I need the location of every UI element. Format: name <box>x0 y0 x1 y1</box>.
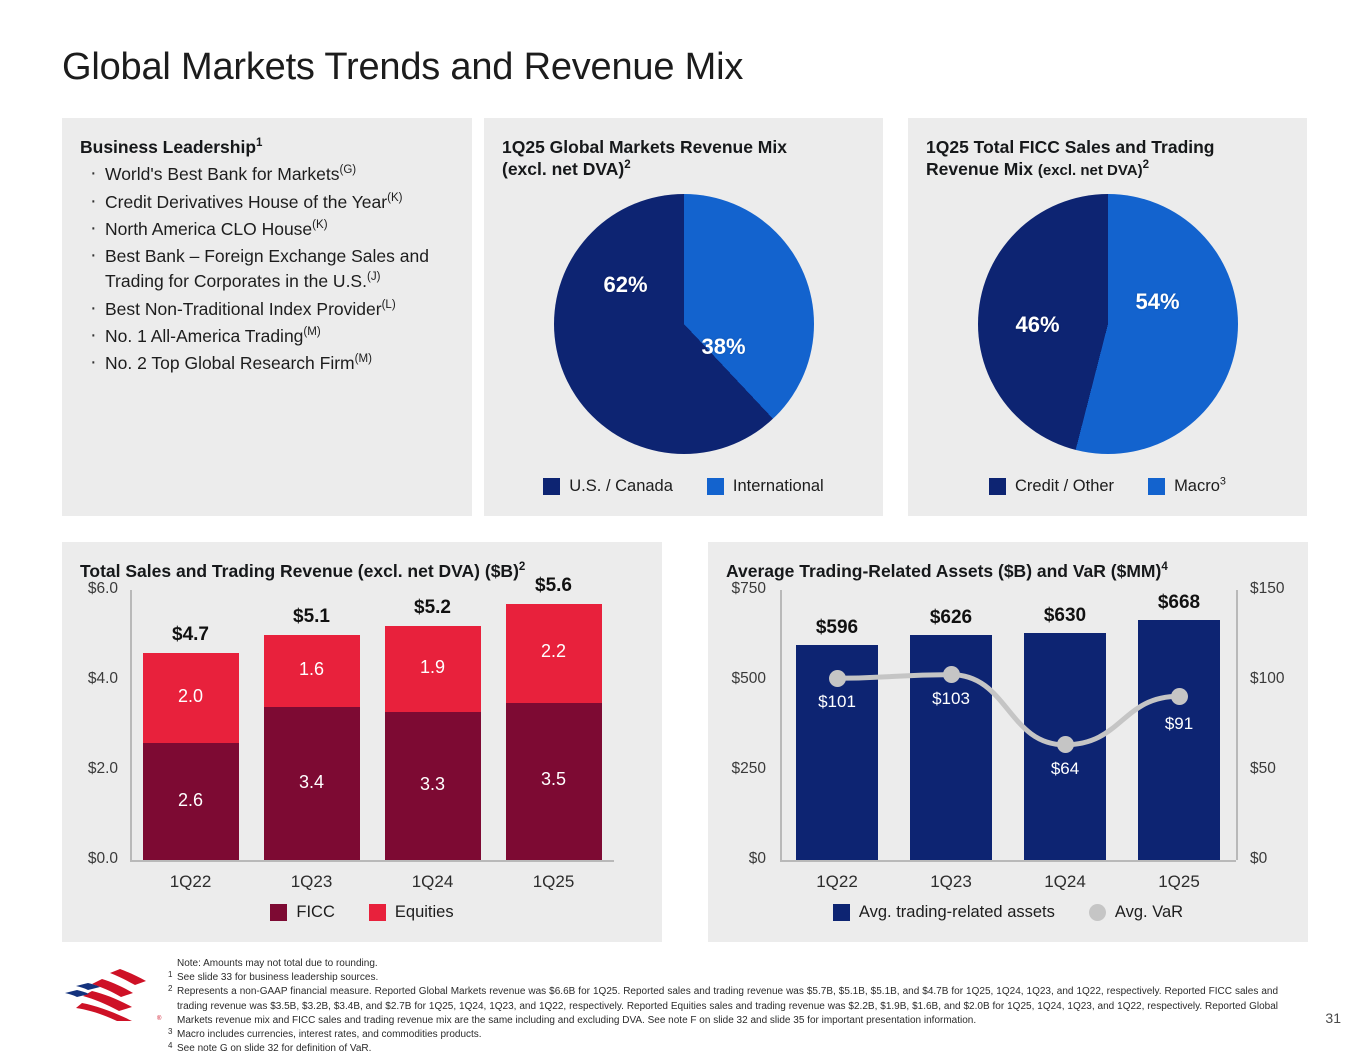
legend-label-avg-assets: Avg. trading-related assets <box>859 903 1055 922</box>
bar-segment-value-equities: 2.2 <box>506 641 602 662</box>
footnote-2-text: Represents a non-GAAP financial measure.… <box>177 986 1278 1025</box>
y-axis-tick-label: $2.0 <box>62 760 118 778</box>
list-item-source-ref: (G) <box>339 165 356 177</box>
total-sales-trading-revenue-panel: Total Sales and Trading Revenue (excl. n… <box>62 542 662 942</box>
var-data-point[interactable] <box>943 666 960 683</box>
footnote-ref-2: 2 <box>1143 160 1149 172</box>
list-item-text: Best Non-Traditional Index Provider <box>105 299 382 319</box>
revenue-mix-pie-panel: 1Q25 Global Markets Revenue Mix (excl. n… <box>484 118 883 516</box>
avg-trading-assets-var-plot: $0$250$500$750$0$50$100$150$5961Q22$6261… <box>708 542 1308 942</box>
ficc-mix-pie-legend: Credit / Other Macro3 <box>908 477 1307 496</box>
bar-segment-equities[interactable]: 1.6 <box>264 635 360 707</box>
legend-item-macro: Macro3 <box>1148 477 1226 496</box>
legend-label-equities: Equities <box>395 903 454 922</box>
bar-segment-equities[interactable]: 2.0 <box>143 653 239 743</box>
revenue-mix-pie-title: 1Q25 Global Markets Revenue Mix (excl. n… <box>502 136 883 181</box>
ficc-mix-pie-chart: 46% 54% <box>908 194 1307 454</box>
revenue-mix-pie-legend: U.S. / Canada International <box>484 477 883 496</box>
bar-segment-value-ficc: 2.6 <box>143 790 239 811</box>
legend-label-avg-var: Avg. VaR <box>1115 903 1183 922</box>
list-item-text: World's Best Bank for Markets <box>105 164 339 184</box>
footnote-ref-2: 2 <box>624 160 630 172</box>
footnote-1: 1See slide 33 for business leadership so… <box>168 971 1278 985</box>
bar-total-label: $5.1 <box>264 606 360 628</box>
bar-segment-value-ficc: 3.5 <box>506 769 602 790</box>
footnote-2: 2Represents a non-GAAP financial measure… <box>168 985 1278 1028</box>
x-axis-category-label: 1Q23 <box>251 872 372 892</box>
list-item-source-ref: (M) <box>303 326 320 338</box>
legend-item-ficc: FICC <box>270 903 335 922</box>
y-axis-tick-label: $0.0 <box>62 850 118 868</box>
ficc-mix-pie-panel: 1Q25 Total FICC Sales and Trading Revenu… <box>908 118 1307 516</box>
ficc-mix-pie-subtitle: (excl. net DVA) <box>1038 162 1143 179</box>
var-data-label: $91 <box>1144 714 1214 734</box>
legend-swatch-ficc <box>270 904 287 921</box>
total-sales-trading-revenue-plot: $0.0$2.0$4.0$6.02.62.0$4.71Q223.41.6$5.1… <box>62 542 662 942</box>
bar-column[interactable]: 2.62.0$4.7 <box>143 590 239 860</box>
list-item-text: No. 2 Top Global Research Firm <box>105 353 355 373</box>
bar-segment-ficc[interactable]: 3.4 <box>264 707 360 860</box>
legend-label-macro: Macro3 <box>1174 477 1226 496</box>
var-data-label: $101 <box>802 692 872 712</box>
list-item-text: North America CLO House <box>105 219 312 239</box>
y-axis-tick-label: $6.0 <box>62 580 118 598</box>
y-axis-line <box>130 590 132 860</box>
registered-mark: ® <box>157 1015 162 1022</box>
total-sales-trading-revenue-legend: FICC Equities <box>62 903 662 922</box>
list-item-text: Credit Derivatives House of the Year <box>105 192 387 212</box>
var-data-point[interactable] <box>1057 736 1074 753</box>
page-title: Global Markets Trends and Revenue Mix <box>62 46 743 89</box>
list-item-source-ref: (K) <box>312 219 327 231</box>
business-leadership-heading: Business Leadership1 <box>80 136 472 158</box>
revenue-mix-pie-chart: 62% 38% <box>484 194 883 454</box>
business-leadership-list: World's Best Bank for Markets(G) Credit … <box>88 162 472 376</box>
bar-total-label: $5.2 <box>385 597 481 619</box>
list-item: No. 2 Top Global Research Firm(M) <box>88 351 460 376</box>
var-data-point[interactable] <box>1171 688 1188 705</box>
bar-segment-ficc[interactable]: 3.3 <box>385 712 481 861</box>
list-item-source-ref: (M) <box>355 353 372 365</box>
bar-column[interactable]: 3.41.6$5.1 <box>264 590 360 860</box>
footnote-4-mark: 4 <box>168 1040 172 1051</box>
legend-swatch-avg-var <box>1089 904 1106 921</box>
legend-label-international: International <box>733 477 824 496</box>
x-axis-category-label: 1Q24 <box>372 872 493 892</box>
legend-swatch-equities <box>369 904 386 921</box>
list-item-source-ref: (K) <box>387 192 402 204</box>
legend-item-avg-assets: Avg. trading-related assets <box>833 903 1055 922</box>
pie-slice-value-international: 38% <box>702 334 746 360</box>
footnote-ref-3: 3 <box>1220 476 1226 488</box>
var-data-label: $103 <box>916 689 986 709</box>
legend-swatch-credit-other <box>989 478 1006 495</box>
ficc-mix-pie-title-line2: Revenue Mix (excl. net DVA)2 <box>926 158 1307 180</box>
avg-trading-assets-var-legend: Avg. trading-related assets Avg. VaR <box>708 903 1308 922</box>
footnote-3-text: Macro includes currencies, interest rate… <box>177 1029 482 1040</box>
legend-item-credit-other: Credit / Other <box>989 477 1114 496</box>
bar-segment-equities[interactable]: 2.2 <box>506 604 602 703</box>
list-item: No. 1 All-America Trading(M) <box>88 324 460 349</box>
list-item: World's Best Bank for Markets(G) <box>88 162 460 187</box>
list-item: Best Bank – Foreign Exchange Sales and T… <box>88 244 460 294</box>
list-item-source-ref: (L) <box>382 299 396 311</box>
bar-column[interactable]: 3.31.9$5.2 <box>385 590 481 860</box>
bar-segment-value-equities: 2.0 <box>143 686 239 707</box>
legend-item-avg-var: Avg. VaR <box>1089 903 1183 922</box>
footnote-1-text: See slide 33 for business leadership sou… <box>177 972 378 983</box>
footnote-4: 4See note G on slide 32 for definition o… <box>168 1042 1278 1056</box>
pie-graphic: 62% 38% <box>554 194 814 454</box>
pie-slice-value-macro: 54% <box>1136 289 1180 315</box>
list-item-text: Best Bank – Foreign Exchange Sales and T… <box>105 246 429 291</box>
x-axis-line <box>130 860 614 862</box>
list-item: Credit Derivatives House of the Year(K) <box>88 190 460 215</box>
legend-swatch-international <box>707 478 724 495</box>
bar-segment-value-equities: 1.6 <box>264 659 360 680</box>
x-axis-category-label: 1Q22 <box>130 872 251 892</box>
legend-label-ficc: FICC <box>296 903 335 922</box>
bar-column[interactable]: 3.52.2$5.6 <box>506 590 602 860</box>
list-item: Best Non-Traditional Index Provider(L) <box>88 297 460 322</box>
y-axis-tick-label: $4.0 <box>62 670 118 688</box>
legend-swatch-us-canada <box>543 478 560 495</box>
var-data-point[interactable] <box>829 670 846 687</box>
legend-item-international: International <box>707 477 824 496</box>
legend-swatch-avg-assets <box>833 904 850 921</box>
bar-total-label: $5.6 <box>506 575 602 597</box>
bar-segment-ficc[interactable]: 2.6 <box>143 743 239 860</box>
list-item-text: No. 1 All-America Trading <box>105 326 303 346</box>
footnote-ref-1: 1 <box>256 137 262 149</box>
legend-item-us-canada: U.S. / Canada <box>543 477 673 496</box>
legend-swatch-macro <box>1148 478 1165 495</box>
ficc-mix-pie-title-line1: 1Q25 Total FICC Sales and Trading <box>926 136 1307 158</box>
pie-graphic: 46% 54% <box>978 194 1238 454</box>
legend-label-credit-other: Credit / Other <box>1015 477 1114 496</box>
x-axis-category-label: 1Q25 <box>493 872 614 892</box>
legend-item-equities: Equities <box>369 903 454 922</box>
revenue-mix-pie-title-line1: 1Q25 Global Markets Revenue Mix <box>502 136 883 158</box>
bar-segment-value-ficc: 3.3 <box>385 774 481 795</box>
business-leadership-panel: Business Leadership1 World's Best Bank f… <box>62 118 472 516</box>
footnote-4-text: See note G on slide 32 for definition of… <box>177 1043 371 1054</box>
footnote-2-mark: 2 <box>168 983 172 994</box>
pie-slice-value-us-canada: 62% <box>604 272 648 298</box>
footnote-3: 3Macro includes currencies, interest rat… <box>168 1028 1278 1042</box>
var-data-label: $64 <box>1030 759 1100 779</box>
list-item-source-ref: (J) <box>367 271 380 283</box>
list-item: North America CLO House(K) <box>88 217 460 242</box>
bar-total-label: $4.7 <box>143 624 239 646</box>
bar-segment-equities[interactable]: 1.9 <box>385 626 481 712</box>
logo-flag-icon <box>65 969 146 1021</box>
footnotes: Note: Amounts may not total due to round… <box>168 957 1278 1056</box>
bank-of-america-logo: ® <box>62 965 170 1023</box>
ficc-mix-pie-title: 1Q25 Total FICC Sales and Trading Revenu… <box>926 136 1307 181</box>
revenue-mix-pie-subtitle: (excl. net DVA)2 <box>502 158 883 180</box>
business-leadership-heading-text: Business Leadership <box>80 137 256 157</box>
bar-segment-ficc[interactable]: 3.5 <box>506 703 602 861</box>
pie-slice-value-credit-other: 46% <box>1016 312 1060 338</box>
footnote-3-mark: 3 <box>168 1026 172 1037</box>
bar-segment-value-equities: 1.9 <box>385 657 481 678</box>
var-line-series <box>708 542 1308 942</box>
page-number: 31 <box>1325 1010 1341 1026</box>
footnote-note: Note: Amounts may not total due to round… <box>168 957 1278 971</box>
legend-label-us-canada: U.S. / Canada <box>569 477 673 496</box>
avg-trading-assets-var-panel: Average Trading-Related Assets ($B) and … <box>708 542 1308 942</box>
bar-segment-value-ficc: 3.4 <box>264 772 360 793</box>
footnote-1-mark: 1 <box>168 969 172 980</box>
